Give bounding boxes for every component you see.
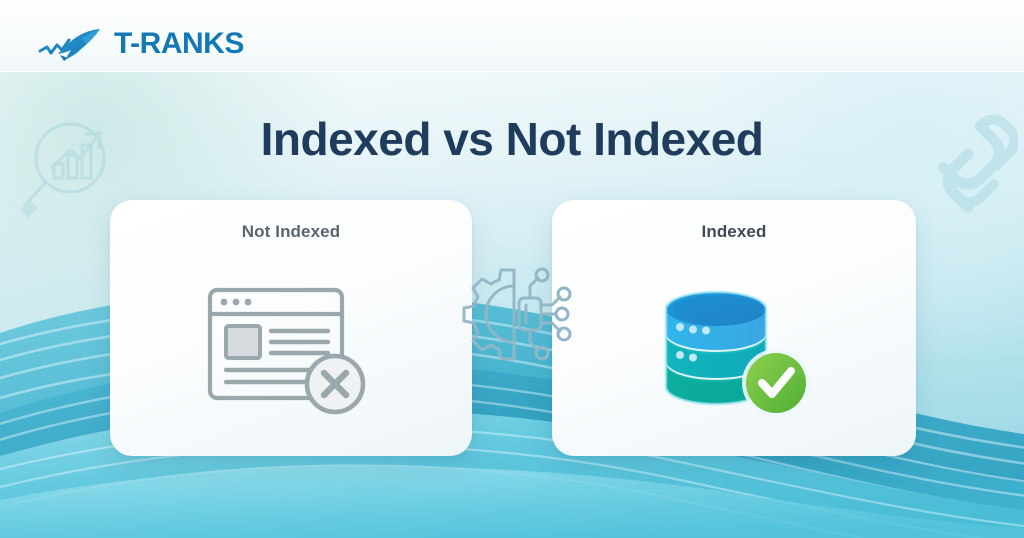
card-art-not-indexed (110, 262, 472, 442)
card-art-indexed (552, 262, 916, 442)
brand-wordmark: T-RANKS (114, 29, 244, 59)
infographic-canvas: T-RANKS Indexed vs Not Indexed Not Index… (0, 0, 1024, 538)
card-indexed[interactable]: Indexed (552, 200, 916, 456)
page-title: Indexed vs Not Indexed (0, 112, 1024, 166)
database-check-icon (648, 277, 820, 427)
gear-circuit-ai-icon (456, 264, 578, 364)
card-not-indexed[interactable]: Not Indexed (110, 200, 472, 456)
card-label-not-indexed: Not Indexed (110, 222, 472, 242)
browser-window-error-icon (203, 280, 379, 424)
brand-logo[interactable]: T-RANKS (38, 26, 244, 62)
rocket-chart-logo-icon (38, 26, 110, 62)
card-label-indexed: Indexed (552, 222, 916, 242)
